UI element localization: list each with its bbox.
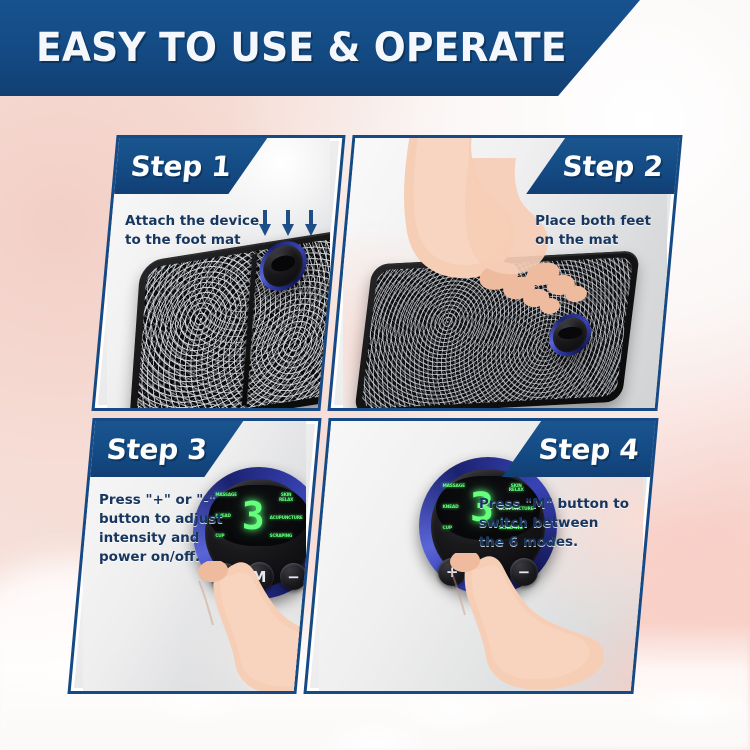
step-1-caption: Attach the device to the foot mat xyxy=(125,212,259,250)
step-3-caption: Press "+" or "-" button to adjust intens… xyxy=(99,491,223,568)
mode-label: KNEAD xyxy=(442,506,465,510)
mode-label: MASSAGE xyxy=(442,485,465,489)
step-2-label: Step 2 xyxy=(561,150,664,183)
down-arrow-icon xyxy=(259,210,271,236)
step-2-caption: Place both feet on the mat xyxy=(535,212,651,250)
hand-pressing-plus xyxy=(169,561,306,691)
step-panel-4[interactable]: MASSAGE KNEAD CUP 3 SKIN RELAX ACUPUNCTU… xyxy=(303,418,658,694)
step-4-label: Step 4 xyxy=(537,433,640,466)
mode-label: SKIN RELAX xyxy=(499,485,534,494)
infographic-stage: EASY TO USE & OPERATE xyxy=(0,0,750,750)
pod-modes-right: SKIN RELAX ACUPUNCTURE SCRAPING xyxy=(270,493,303,538)
header-banner: EASY TO USE & OPERATE xyxy=(0,0,640,96)
mode-label: SKIN RELAX xyxy=(270,493,303,501)
down-arrows-group xyxy=(259,210,317,236)
step-1-label: Step 1 xyxy=(129,150,232,183)
mode-label: CUP xyxy=(442,527,465,531)
mode-label: ACUPUNCTURE xyxy=(270,516,303,520)
step-4-caption: Press "M" button to switch between the 6… xyxy=(479,495,629,552)
pod-display: MASSAGE KNEAD CUP 3 SKIN RELAX ACUPUNCTU… xyxy=(209,485,306,546)
page-title: EASY TO USE & OPERATE xyxy=(36,25,567,71)
step-3-label: Step 3 xyxy=(105,433,208,466)
step-panel-3[interactable]: MASSAGE KNEAD CUP 3 SKIN RELAX ACUPUNCTU… xyxy=(67,418,321,694)
mode-label: SCRAPING xyxy=(270,534,303,538)
intensity-value: 3 xyxy=(242,500,265,532)
hand-pressing-mode xyxy=(415,553,605,691)
down-arrow-icon xyxy=(305,210,317,236)
pod-modes-left: MASSAGE KNEAD CUP xyxy=(442,485,465,532)
step-panel-1[interactable]: Attach the device to the foot mat Step 1 xyxy=(91,135,345,411)
steps-grid: Attach the device to the foot mat Step 1 xyxy=(0,96,750,696)
down-arrow-icon xyxy=(282,210,294,236)
step-panel-2[interactable]: Place both feet on the mat Step 2 xyxy=(327,135,682,411)
